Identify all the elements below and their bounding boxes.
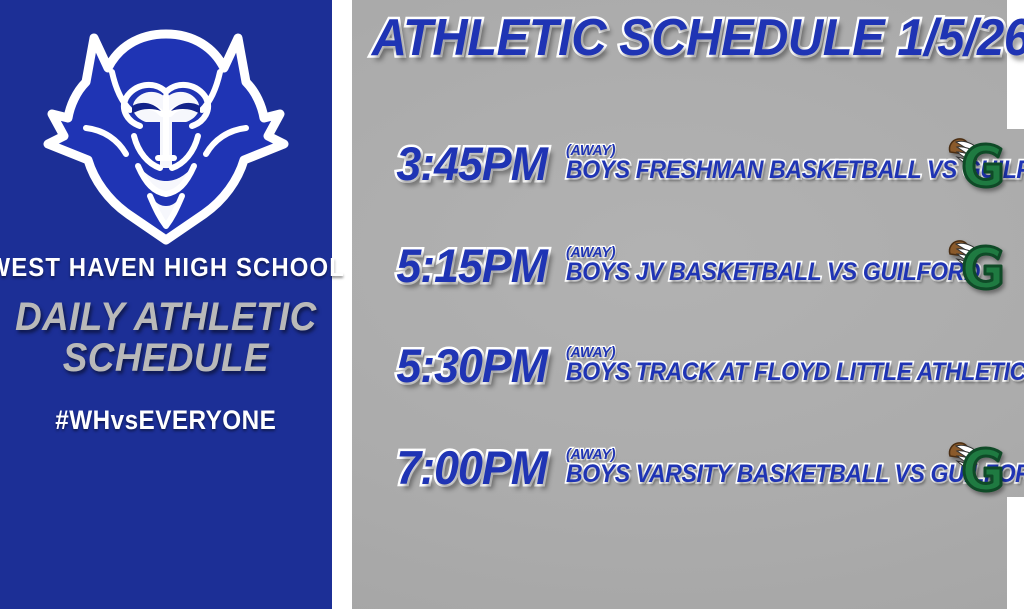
event-name: BOYS JV BASKETBALL VS GUILFORD (566, 258, 910, 287)
event-name: BOYS VARSITY BASKETBALL VS GUILFORD (566, 460, 910, 489)
branding-sidebar: WEST HAVEN HIGH SCHOOL DAILY ATHLETIC SC… (0, 0, 332, 609)
event-name: BOYS FRESHMAN BASKETBALL VS GUILFORD (566, 156, 910, 185)
hashtag-slogan: #WHvsEVERYONE (55, 405, 276, 436)
event-time: 5:30PM (357, 338, 547, 393)
page-title: ATHLETIC SCHEDULE 1/5/26 (372, 8, 992, 68)
schedule-row: 7:00PM (AWAY) BOYS VARSITY BASKETBALL VS… (352, 430, 1024, 504)
guilford-g-logo-icon (944, 134, 1006, 192)
schedule-list: 3:45PM (AWAY) BOYS FRESHMAN BASKETBALL V… (352, 112, 1024, 512)
event-details: (AWAY) BOYS VARSITY BASKETBALL VS GUILFO… (552, 446, 940, 489)
school-name: WEST HAVEN HIGH SCHOOL (0, 252, 345, 283)
guilford-g-logo-icon (944, 438, 1006, 496)
event-details: (AWAY) BOYS TRACK AT FLOYD LITTLE ATHLET… (552, 344, 940, 387)
sidebar-title: DAILY ATHLETIC SCHEDULE (15, 297, 317, 379)
board-notch-top-left (333, 0, 352, 129)
event-time: 5:15PM (357, 238, 547, 293)
schedule-row: 5:15PM (AWAY) BOYS JV BASKETBALL VS GUIL… (352, 228, 1024, 302)
board-notch-bottom-left (333, 497, 352, 609)
sidebar-title-line1: DAILY ATHLETIC (15, 295, 317, 339)
event-time: 7:00PM (357, 440, 547, 495)
guilford-g-logo-icon (944, 236, 1006, 294)
athletic-schedule-poster: WEST HAVEN HIGH SCHOOL DAILY ATHLETIC SC… (0, 0, 1024, 609)
event-name: BOYS TRACK AT FLOYD LITTLE ATHLETIC CENT… (566, 358, 910, 387)
event-time: 3:45PM (357, 136, 547, 191)
schedule-row: 5:30PM (AWAY) BOYS TRACK AT FLOYD LITTLE… (352, 328, 1024, 402)
blue-devil-logo-icon (42, 18, 290, 246)
schedule-row: 3:45PM (AWAY) BOYS FRESHMAN BASKETBALL V… (352, 126, 1024, 200)
sidebar-title-line2: SCHEDULE (15, 338, 317, 379)
event-details: (AWAY) BOYS JV BASKETBALL VS GUILFORD (552, 244, 940, 287)
event-details: (AWAY) BOYS FRESHMAN BASKETBALL VS GUILF… (552, 142, 940, 185)
board-notch-bottom-right (1007, 497, 1024, 609)
